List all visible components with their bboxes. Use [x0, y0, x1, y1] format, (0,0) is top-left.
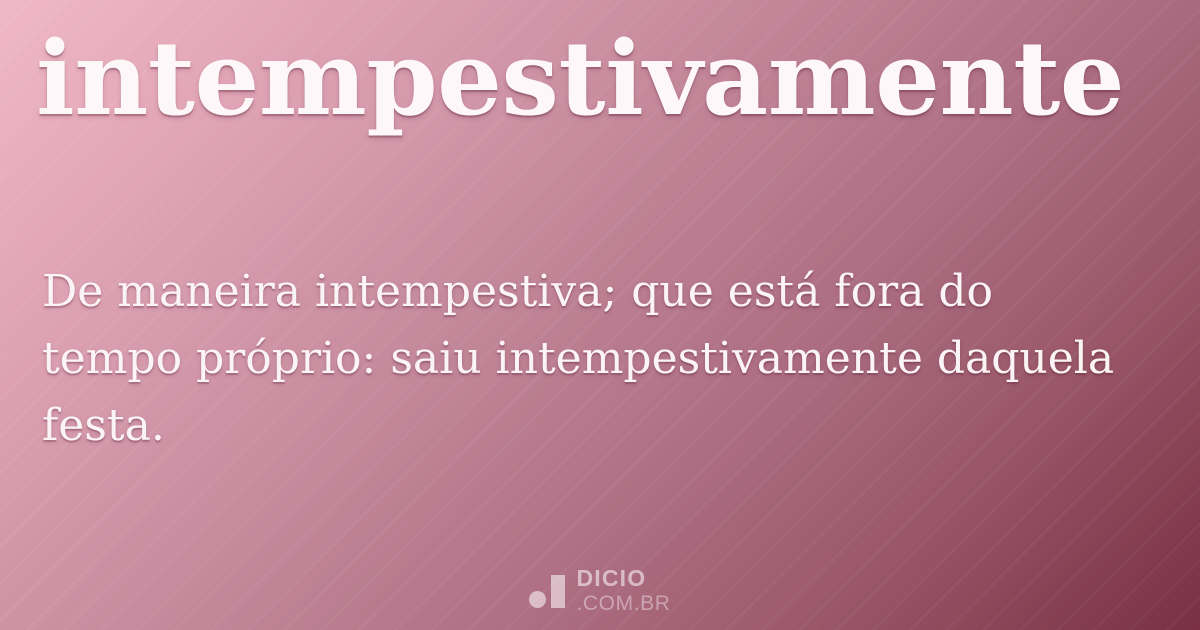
logo-circle-icon — [529, 591, 546, 608]
card-content: intempestivamente De maneira intempestiv… — [0, 0, 1200, 630]
logo-mark-icon — [529, 574, 565, 608]
definition-line: De maneira intempestiva; que está fora d… — [42, 258, 1172, 325]
definition-line: festa. — [42, 392, 1172, 459]
headword-title: intempestivamente — [36, 22, 1166, 136]
dicio-logo: DICIO .COM.BR — [0, 567, 1200, 614]
definition-text: De maneira intempestiva; que está fora d… — [42, 258, 1172, 459]
definition-line: tempo próprio: saiu intempestivamente da… — [42, 325, 1172, 392]
definition-card: intempestivamente De maneira intempestiv… — [0, 0, 1200, 630]
logo-bar-icon — [551, 575, 565, 608]
logo-wordmark: DICIO .COM.BR — [576, 567, 670, 614]
logo-tld: .COM.BR — [576, 593, 670, 614]
logo-name: DICIO — [576, 567, 670, 590]
